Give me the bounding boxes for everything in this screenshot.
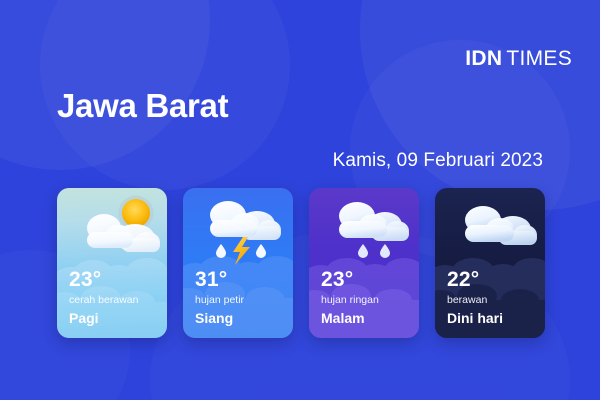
card-info: 23° cerah berawan Pagi: [57, 268, 167, 338]
logo-idn-text: IDN: [465, 47, 502, 70]
condition-label: berawan: [447, 293, 545, 307]
forecast-card-siang[interactable]: 31° hujan petir Siang: [183, 188, 293, 338]
page-title: Jawa Barat: [57, 88, 228, 124]
condition-label: hujan petir: [195, 293, 293, 307]
temperature-value: 31°: [195, 268, 293, 292]
logo-times-text: TIMES: [506, 47, 572, 70]
card-info: 23° hujan ringan Malam: [309, 268, 419, 338]
idn-times-logo: IDNTIMES: [465, 48, 572, 69]
forecast-card-pagi[interactable]: 23° cerah berawan Pagi: [57, 188, 167, 338]
card-info: 22° berawan Dini hari: [435, 268, 545, 338]
temperature-value: 23°: [69, 268, 167, 292]
forecast-card-list: 23° cerah berawan Pagi: [57, 188, 545, 338]
period-label: Dini hari: [447, 309, 545, 327]
period-label: Siang: [195, 309, 293, 327]
period-label: Malam: [321, 309, 419, 327]
temperature-value: 22°: [447, 268, 545, 292]
forecast-card-dini-hari[interactable]: 22° berawan Dini hari: [435, 188, 545, 338]
period-label: Pagi: [69, 309, 167, 327]
sun-behind-cloud-icon: [77, 194, 163, 258]
forecast-date: Kamis, 09 Februari 2023: [333, 150, 543, 172]
card-info: 31° hujan petir Siang: [183, 268, 293, 338]
condition-label: cerah berawan: [69, 293, 167, 307]
forecast-card-malam[interactable]: 23° hujan ringan Malam: [309, 188, 419, 338]
condition-label: hujan ringan: [321, 293, 419, 307]
temperature-value: 23°: [321, 268, 419, 292]
